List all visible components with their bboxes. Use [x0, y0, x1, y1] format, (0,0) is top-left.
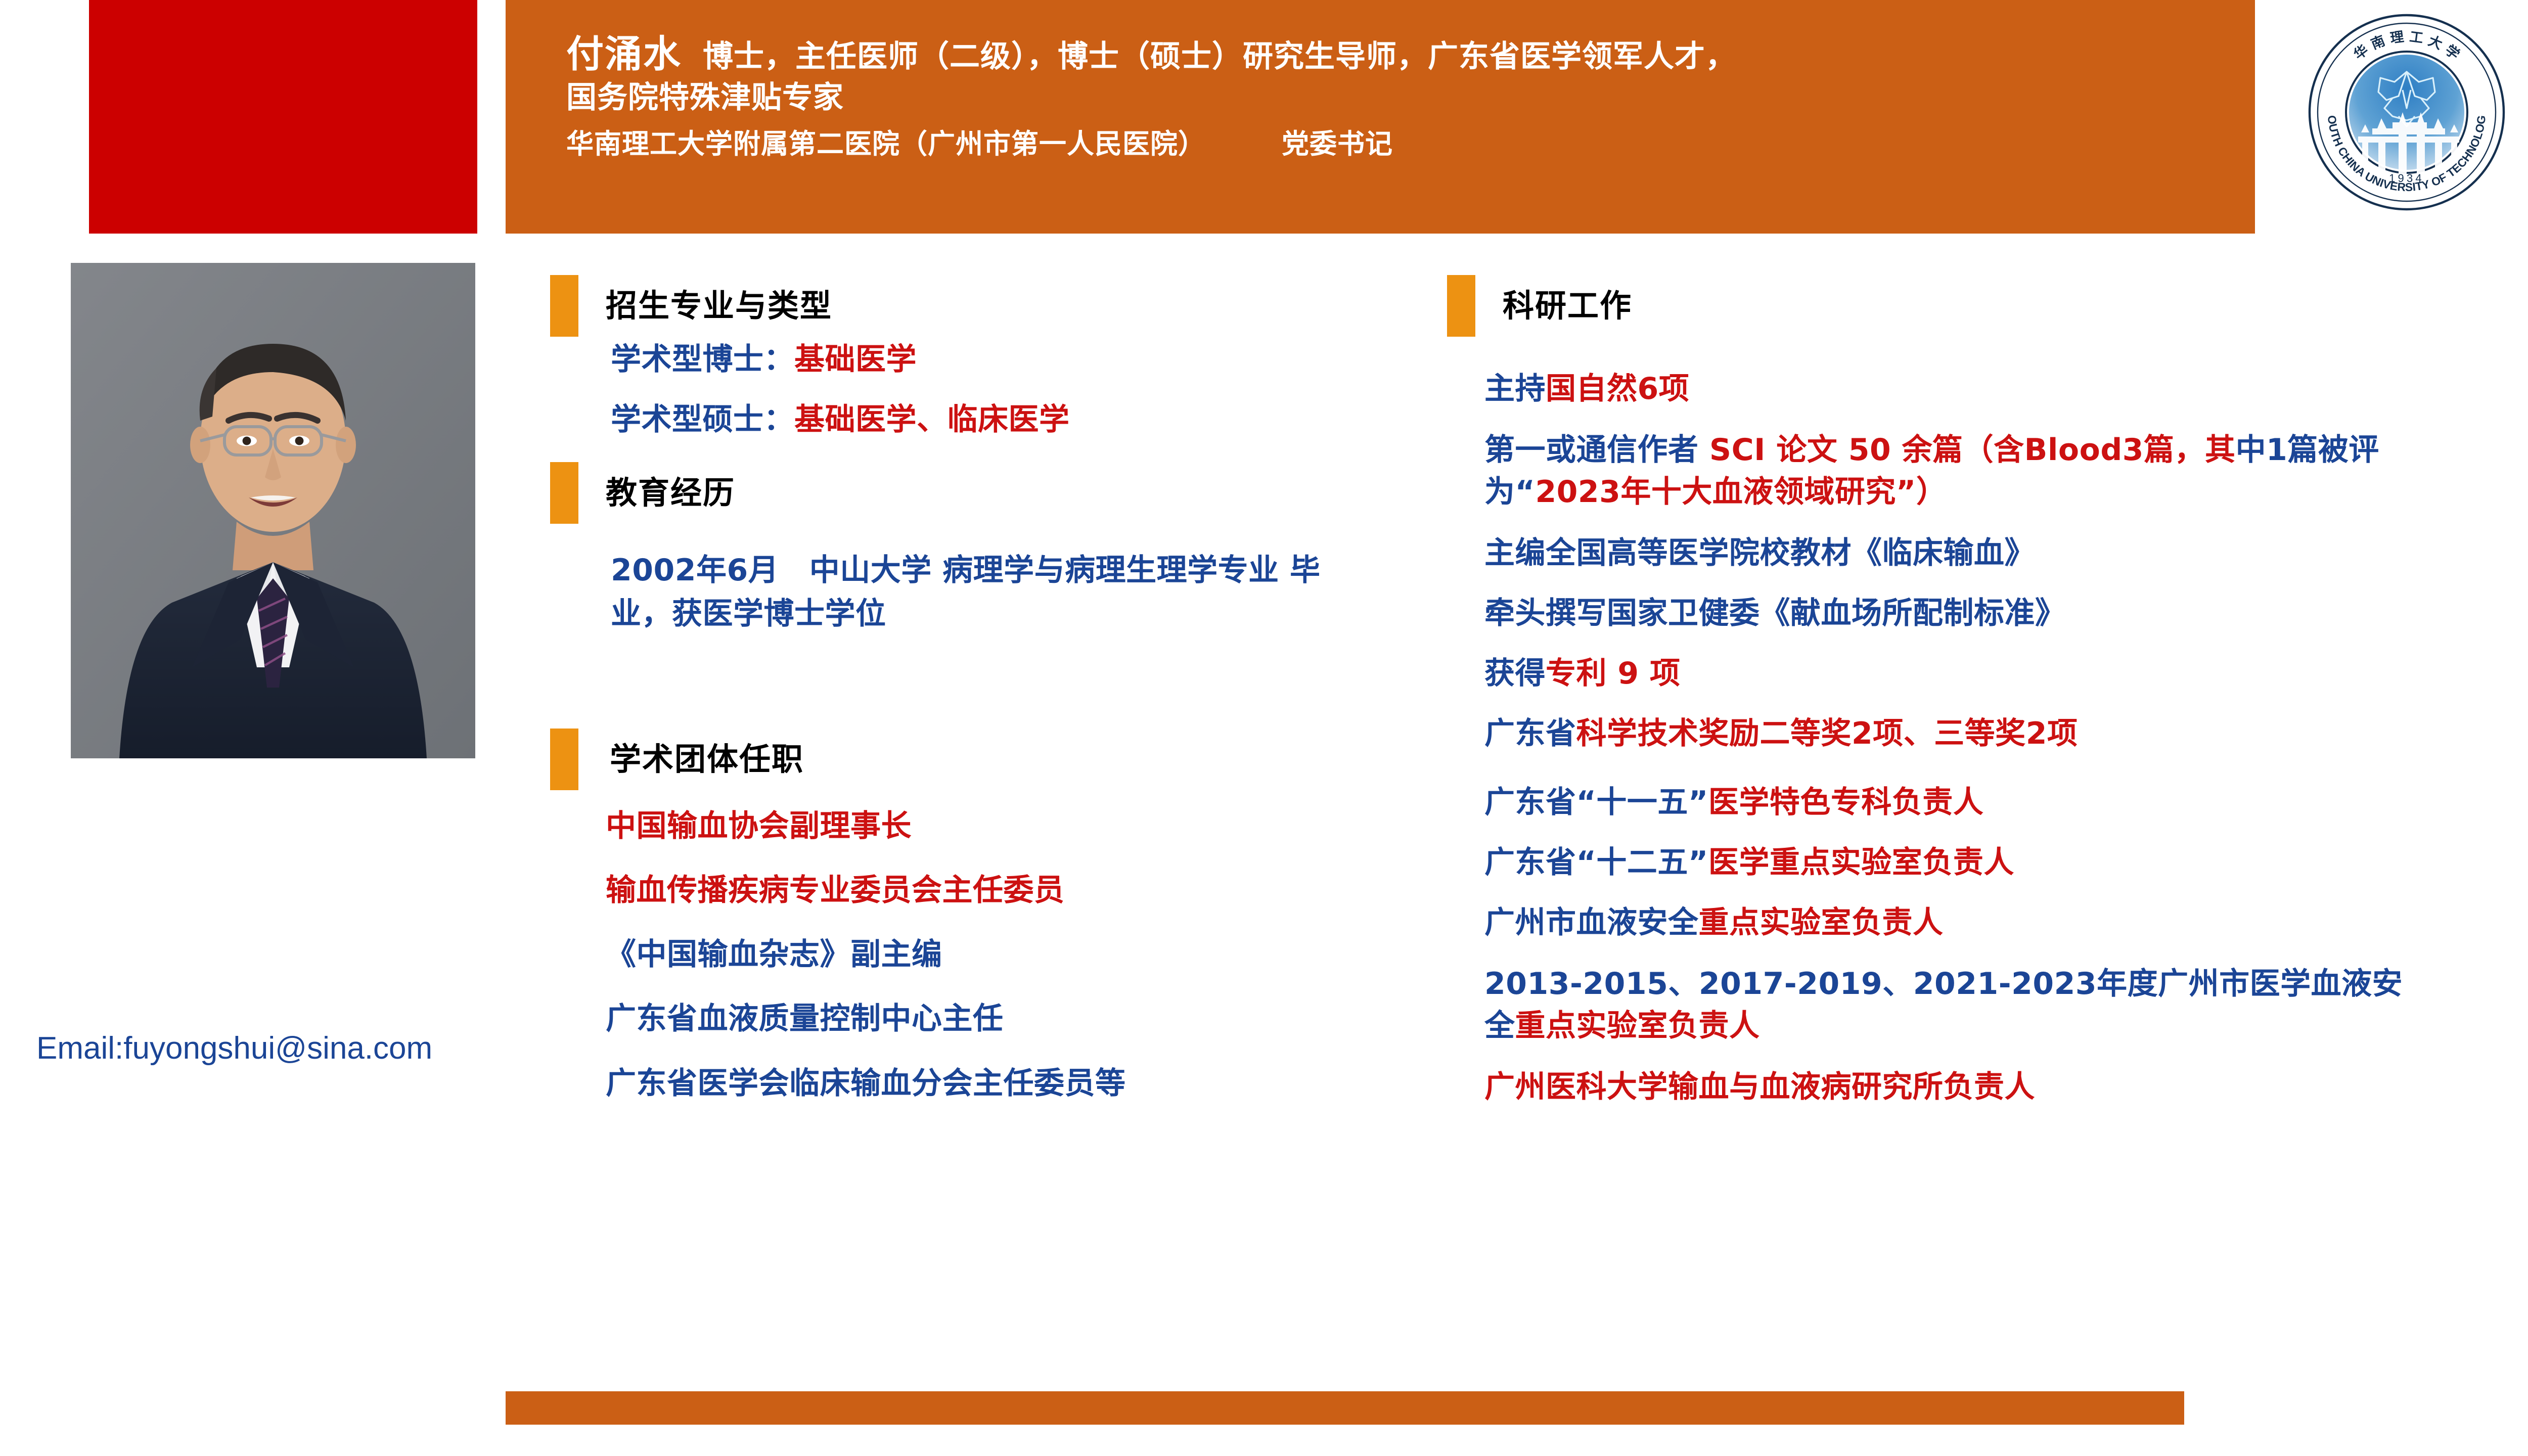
item-value: 医学特色专科负责人 — [1708, 785, 1984, 820]
portrait-photo — [71, 263, 475, 758]
section-title: 科研工作 — [1503, 280, 1632, 326]
item-label: 广东省 — [1484, 716, 1576, 751]
section-title: 学术团体任职 — [610, 734, 804, 779]
list-item: 2013-2015、2017-2019、2021-2023年度广州市医学血液安全… — [1484, 963, 2408, 1047]
list-item: 广东省血液质量控制中心主任 — [606, 999, 1339, 1039]
person-titles-line2: 国务院特殊津贴专家 — [566, 78, 2225, 117]
section-header: 教育经历 — [550, 460, 1339, 527]
item-value-2: 2023年十大血液领域研究”） — [1535, 474, 1947, 510]
list-item: 获得专利 9 项 — [1484, 654, 2408, 694]
item-value: 科学技术奖励二等奖2项、三等奖2项 — [1576, 716, 2078, 751]
left-column: 招生专业与类型 学术型博士：基础医学 学术型硕士：基础医学、临床医学 教育经历 … — [550, 273, 1339, 1128]
list-item: 广东省医学会临床输血分会主任委员等 — [606, 1064, 1339, 1104]
item-label: 广东省“十一五” — [1484, 785, 1708, 820]
header-text-group: 付涌水博士，主任医师（二级），博士（硕士）研究生导师，广东省医学领军人才， 国务… — [566, 30, 2225, 162]
orange-tick-icon — [550, 729, 578, 790]
orange-tick-icon — [550, 275, 578, 337]
item-label: 主持 — [1484, 371, 1546, 406]
list-item: 主持国自然6项 — [1484, 369, 2408, 409]
list-item: 广东省“十二五”医学重点实验室负责人 — [1484, 843, 2408, 883]
item-value: SCI 论文 50 余篇（含Blood3篇，其 — [1709, 432, 2236, 468]
right-column: 科研工作 主持国自然6项 第一或通信作者 SCI 论文 50 余篇（含Blood… — [1447, 273, 2408, 1127]
list-item: 广东省科学技术奖励二等奖2项、三等奖2项 — [1484, 714, 2408, 754]
item-label: 学术型博士： — [611, 342, 794, 377]
item-value: 专利 9 项 — [1546, 656, 1681, 691]
decorative-red-block — [89, 0, 477, 234]
section-research-work: 科研工作 主持国自然6项 第一或通信作者 SCI 论文 50 余篇（含Blood… — [1447, 273, 2408, 1107]
item-value: 基础医学、临床医学 — [794, 402, 1070, 437]
orange-tick-icon — [550, 462, 578, 524]
list-item: 学术型博士：基础医学 — [611, 340, 1339, 380]
section-title: 教育经历 — [606, 467, 735, 513]
list-item: 学术型硕士：基础医学、临床医学 — [611, 400, 1339, 440]
item-value: 重点实验室负责人 — [1699, 905, 1944, 940]
list-item: 广东省“十一五”医学特色专科负责人 — [1484, 783, 2408, 823]
list-item: 主编全国高等医学院校教材《临床输血》 — [1484, 533, 2408, 573]
section-education: 教育经历 2002年6月 中山大学 病理学与病理生理学专业 毕业，获医学博士学位 — [550, 460, 1339, 635]
position-title: 党委书记 — [1282, 128, 1393, 160]
item-value: 基础医学 — [794, 342, 917, 377]
orange-tick-icon — [1447, 275, 1475, 337]
item-label: 广东省“十二五” — [1484, 845, 1708, 880]
header-name-and-titles: 付涌水博士，主任医师（二级），博士（硕士）研究生导师，广东省医学领军人才， — [566, 30, 2225, 78]
section-header: 学术团体任职 — [550, 726, 1339, 793]
list-item: 广州医科大学输血与血液病研究所负责人 — [1484, 1067, 2408, 1107]
list-item: 第一或通信作者 SCI 论文 50 余篇（含Blood3篇，其中1篇被评为“20… — [1484, 429, 2408, 513]
education-items: 2002年6月 中山大学 病理学与病理生理学专业 毕业，获医学博士学位 — [611, 549, 1339, 635]
item-label: 学术型硕士： — [611, 402, 794, 437]
section-admission-majors: 招生专业与类型 学术型博士：基础医学 学术型硕士：基础医学、临床医学 — [550, 273, 1339, 440]
affiliation: 华南理工大学附属第二医院（广州市第一人民医院） — [566, 128, 1206, 160]
list-item: 牵头撰写国家卫健委《献血场所配制标准》 — [1484, 594, 2408, 633]
email-address[interactable]: Email:fuyongshui@sina.com — [36, 1026, 507, 1071]
item-label: 第一或通信作者 — [1484, 432, 1709, 468]
academic-position-items: 中国输血协会副理事长 输血传播疾病专业委员会主任委员 《中国输血杂志》副主编 广… — [606, 806, 1339, 1104]
admission-items: 学术型博士：基础医学 学术型硕士：基础医学、临床医学 — [611, 340, 1339, 440]
footer-bar — [506, 1391, 2184, 1425]
section-title: 招生专业与类型 — [606, 280, 832, 326]
list-item: 中国输血协会副理事长 — [606, 806, 1339, 846]
item-value: 医学重点实验室负责人 — [1708, 845, 2014, 880]
list-item: 输血传播疾病专业委员会主任委员 — [606, 871, 1339, 911]
list-item: 广州市血液安全重点实验室负责人 — [1484, 903, 2408, 943]
list-item: 2002年6月 中山大学 病理学与病理生理学专业 毕业，获医学博士学位 — [611, 549, 1339, 635]
item-value: 国自然6项 — [1546, 371, 1689, 406]
affiliation-line: 华南理工大学附属第二医院（广州市第一人民医院）党委书记 — [566, 126, 2225, 162]
item-value: 重点实验室负责人 — [1515, 1008, 1760, 1043]
list-item: 《中国输血杂志》副主编 — [606, 935, 1339, 975]
person-titles-line1: 博士，主任医师（二级），博士（硕士）研究生导师，广东省医学领军人才， — [703, 39, 1736, 74]
section-header: 招生专业与类型 — [550, 273, 1339, 340]
item-label: 获得 — [1484, 656, 1546, 691]
item-label: 广州市血液安全 — [1484, 905, 1699, 940]
section-academic-positions: 学术团体任职 中国输血协会副理事长 输血传播疾病专业委员会主任委员 《中国输血杂… — [550, 726, 1339, 1104]
research-items: 主持国自然6项 第一或通信作者 SCI 论文 50 余篇（含Blood3篇，其中… — [1484, 369, 2408, 1107]
section-header: 科研工作 — [1447, 273, 2408, 340]
scut-university-logo: 1934 华 南 理 工 大 学 SOUTH CHINA UNIVERSITY … — [2306, 11, 2508, 213]
person-name: 付涌水 — [566, 32, 682, 76]
